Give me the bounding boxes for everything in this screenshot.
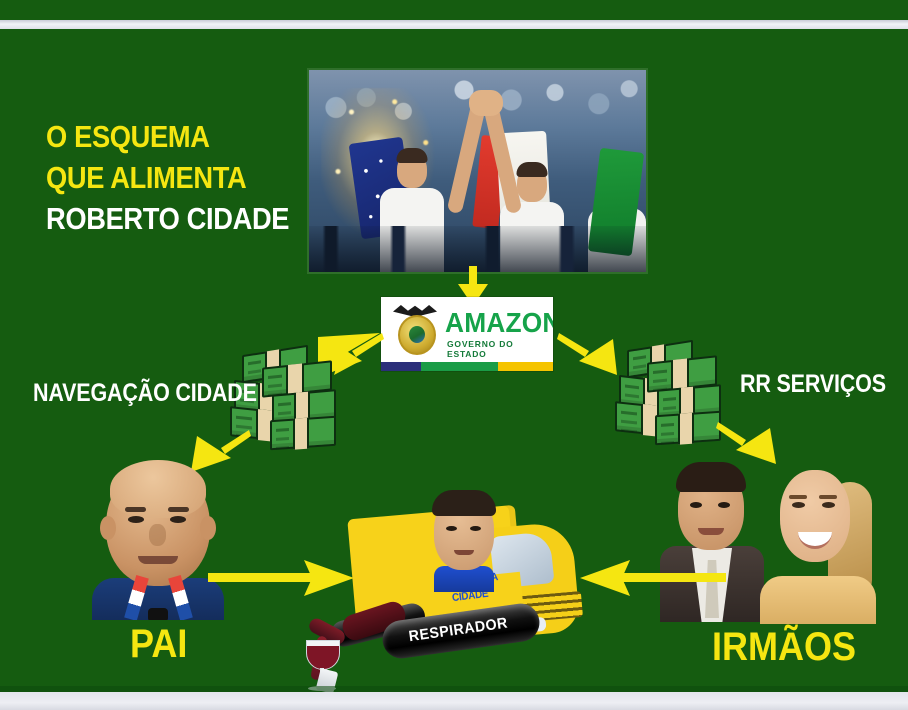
hair xyxy=(397,148,428,163)
eyebrow-right xyxy=(819,495,837,499)
political-rally-photo xyxy=(307,68,648,274)
eye-right xyxy=(170,516,186,523)
arrow-irmaos-to-van-icon xyxy=(580,558,726,598)
siblings-portrait xyxy=(650,452,876,624)
top-light-divider xyxy=(0,20,908,29)
page-title: O ESQUEMA QUE ALIMENTA ROBERTO CIDADE xyxy=(46,116,310,240)
headline-line-2: QUE ALIMENTA xyxy=(46,157,310,198)
brother-figure xyxy=(660,464,764,622)
money-stack-right xyxy=(613,343,723,451)
stripe-yellow xyxy=(498,362,553,371)
cash-bundle xyxy=(270,416,336,451)
label-pai: PAI xyxy=(130,622,187,667)
sister-figure xyxy=(754,456,876,624)
hair xyxy=(676,462,746,492)
glass-bowl xyxy=(306,640,340,670)
clasped-hands xyxy=(469,90,503,116)
amazonas-government-logo: AMAZONAS GOVERNO DO ESTADO xyxy=(381,297,553,371)
headline-line-3: ROBERTO CIDADE xyxy=(46,198,310,239)
dress xyxy=(760,576,876,624)
logo-color-stripe xyxy=(381,362,553,371)
crest-shield xyxy=(398,315,436,355)
eye-left xyxy=(128,516,144,523)
respirator-label: RESPIRADOR xyxy=(408,615,509,646)
driver-face xyxy=(428,492,500,584)
mouth xyxy=(454,550,474,555)
ambulance-montage: MUDANÇA CIDADE RESPIRADOR xyxy=(300,490,600,695)
nose xyxy=(149,524,166,546)
bottom-light-bar xyxy=(0,692,908,710)
headline-line-1: O ESQUEMA xyxy=(46,116,310,157)
father-portrait xyxy=(92,458,224,620)
eye-left xyxy=(792,502,805,508)
infographic-canvas: O ESQUEMA QUE ALIMENTA ROBERTO CIDADE xyxy=(0,0,908,710)
eyebrow-left xyxy=(125,507,146,512)
top-green-bar xyxy=(0,0,908,20)
medal xyxy=(148,608,168,620)
eye-left xyxy=(446,526,457,531)
logo-subtitle: GOVERNO DO ESTADO xyxy=(447,339,553,359)
label-navegacao-cidade: NAVEGAÇÃO CIDADE xyxy=(33,379,257,408)
label-rr-servicos: RR SERVIÇOS xyxy=(740,370,886,399)
stripe-green xyxy=(421,362,498,371)
arm-right xyxy=(483,102,523,215)
mouth xyxy=(698,528,724,535)
hair xyxy=(432,490,496,516)
mouth xyxy=(138,556,178,564)
eye-right xyxy=(470,526,481,531)
arm-left xyxy=(447,102,487,215)
eye-right xyxy=(718,502,730,508)
label-irmaos: IRMÃOS xyxy=(712,625,856,670)
eyebrow-right xyxy=(168,507,189,512)
crest-shield-inner xyxy=(409,326,425,343)
logo-wordmark: AMAZONAS xyxy=(445,307,553,339)
ear-left xyxy=(100,516,116,540)
state-crest-icon xyxy=(390,305,440,355)
eye-right xyxy=(822,502,835,508)
eye-left xyxy=(690,502,702,508)
cash-bundle xyxy=(655,411,721,446)
eyebrow-left xyxy=(789,495,807,499)
stripe-navy xyxy=(381,362,421,371)
raised-arms xyxy=(437,96,533,214)
ear-right xyxy=(200,516,216,540)
